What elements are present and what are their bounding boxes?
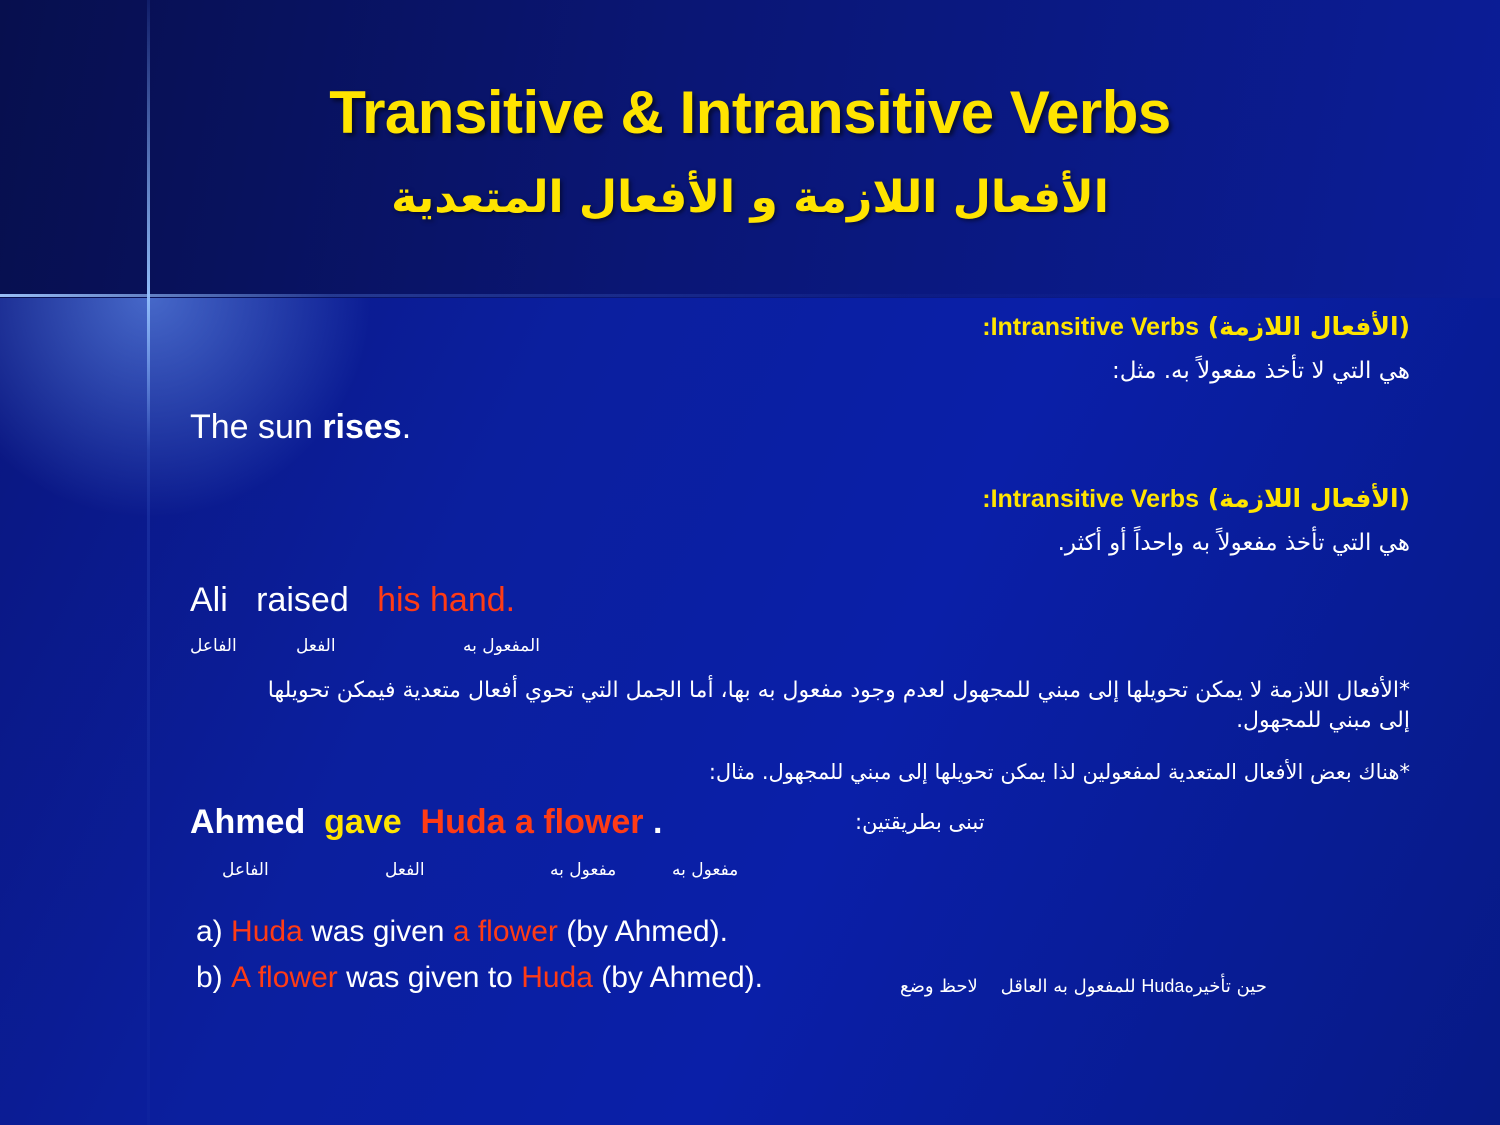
answer-b-part3: Huda: [521, 961, 593, 994]
page-title-arabic: الأفعال اللازمة و الأفعال المتعدية: [0, 172, 1500, 223]
two-object-example: Ahmed gave Huda a flower .: [190, 803, 662, 842]
intransitive-heading: (الأفعال اللازمة) Intransitive Verbs:: [982, 312, 1410, 342]
footnote-left: حين تأخيره: [1184, 976, 1266, 997]
transitive-example-subject: Ali: [190, 581, 228, 619]
gloss2-object2: مفعول به: [672, 860, 738, 880]
footnote-name: Huda: [1141, 976, 1184, 996]
intransitive-heading-arabic: (الأفعال اللازمة): [1208, 312, 1410, 341]
gloss-subject: الفاعل: [190, 636, 237, 656]
answer-a: a) Huda was given a flower (by Ahmed).: [196, 915, 728, 949]
gloss2-subject: الفاعل: [222, 860, 269, 880]
intransitive-definition: هي التي لا تأخذ مفعولاً به. مثل:: [1112, 358, 1410, 384]
two-object-object2: a flower: [515, 803, 643, 841]
slide-body: (الأفعال اللازمة) Intransitive Verbs: هي…: [0, 298, 1500, 1125]
answer-b: b) A flower was given to Huda (by Ahmed)…: [196, 961, 763, 995]
note-passive-rule: *الأفعال اللازمة لا يمكن تحويلها إلى مبن…: [230, 676, 1410, 735]
transitive-definition: هي التي تأخذ مفعولاً به واحداً أو أكثر.: [1058, 530, 1410, 556]
intransitive-heading-colon: :: [982, 313, 990, 341]
footnote-right: لاحظ وضع: [900, 976, 978, 997]
answer-b-label: b): [196, 961, 223, 994]
intransitive-heading-english: Intransitive Verbs: [991, 313, 1199, 341]
intransitive-example-verb: rises: [322, 408, 401, 446]
transitive-example-verb: raised: [256, 581, 349, 619]
transitive-example: Ali raised his hand.: [190, 581, 515, 620]
transitive-heading: (الأفعال اللازمة) Intransitive Verbs:: [982, 484, 1410, 514]
transitive-heading-english: Intransitive Verbs: [991, 485, 1199, 513]
slide: Transitive & Intransitive Verbs الأفعال …: [0, 0, 1500, 1125]
gloss-object: المفعول به: [463, 636, 540, 656]
title-band: [0, 0, 1500, 298]
transitive-heading-arabic: (الأفعال اللازمة): [1208, 484, 1410, 513]
answer-b-part1: A flower: [231, 961, 338, 994]
gloss2-object1: مفعول به: [550, 860, 616, 880]
intransitive-example-prefix: The sun: [190, 408, 322, 446]
gloss2-verb: الفعل: [385, 860, 425, 880]
gloss-verb: الفعل: [296, 636, 336, 656]
divider-horizontal: [0, 294, 1500, 297]
two-object-period: .: [653, 803, 662, 841]
two-object-subject: Ahmed: [190, 803, 305, 841]
intransitive-example-suffix: .: [402, 408, 411, 446]
answer-a-part1: Huda: [231, 915, 303, 948]
transitive-example-object: his hand.: [377, 581, 515, 619]
footnote: حين تأخيرهHuda للمفعول به العاقل لاحظ وض…: [900, 976, 1267, 997]
answer-a-label: a): [196, 915, 223, 948]
note-two-objects: *هناك بعض الأفعال المتعدية لمفعولين لذا …: [709, 760, 1410, 784]
intransitive-example: The sun rises.: [190, 408, 411, 447]
answer-b-part2: was given to: [338, 961, 521, 994]
answer-a-part3: a flower: [453, 915, 558, 948]
answer-a-part2: was given: [303, 915, 453, 948]
footnote-mid: للمفعول به العاقل: [1001, 976, 1136, 997]
page-title-english: Transitive & Intransitive Verbs: [0, 78, 1500, 147]
note-two-ways: تبنى بطريقتين:: [855, 810, 985, 834]
answer-a-part4: (by Ahmed).: [558, 915, 728, 948]
two-object-object1: Huda: [421, 803, 506, 841]
two-object-verb: gave: [324, 803, 402, 841]
answer-b-part4: (by Ahmed).: [593, 961, 763, 994]
transitive-heading-colon: :: [982, 485, 990, 513]
